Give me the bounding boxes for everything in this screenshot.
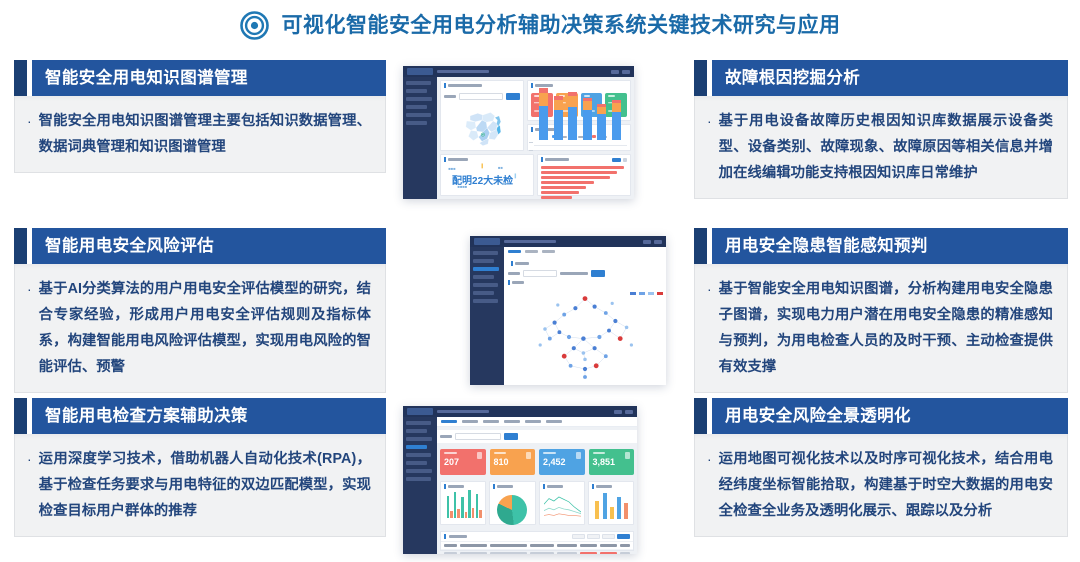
panel-tick-icon bbox=[531, 83, 533, 88]
table-header-cell bbox=[444, 544, 457, 547]
bar bbox=[597, 104, 606, 140]
page-title: 可视化智能安全用电分析辅助决策系统关键技术研究与应用 bbox=[282, 15, 841, 36]
card-header: 智能安全用电知识图谱管理 bbox=[14, 60, 386, 96]
app-titlebar bbox=[403, 406, 637, 417]
bullseye-icon bbox=[240, 11, 269, 40]
sidebar-item[interactable] bbox=[406, 81, 431, 85]
graph-filter-panel bbox=[504, 259, 666, 286]
bar-group bbox=[461, 497, 467, 518]
graph-legend bbox=[630, 292, 663, 295]
card-title: 智能用电检查方案辅助决策 bbox=[45, 408, 248, 425]
kpi-label bbox=[584, 95, 590, 97]
sidebar-item[interactable] bbox=[406, 453, 431, 457]
filter-select[interactable] bbox=[459, 93, 503, 100]
filter-search-button[interactable] bbox=[591, 270, 605, 277]
app-logo bbox=[407, 408, 433, 415]
bullet-item: · 基于智能安全用电知识图谱，分析构建用电安全隐患子图谱，实现电力用户潜在用电安… bbox=[707, 276, 1053, 380]
bullet-text: 智能安全用电知识图谱管理主要包括知识数据管理、数据词典管理和知识图谱管理 bbox=[39, 108, 371, 160]
bar bbox=[612, 100, 621, 140]
sidebar-item-active[interactable] bbox=[473, 267, 499, 271]
bullet-text: 基于AI分类算法的用户用电安全评估模型的研究，结合专家经验，形成用户用电安全评估… bbox=[39, 276, 371, 380]
settings-icon[interactable] bbox=[622, 70, 630, 74]
panel-title-text bbox=[596, 485, 612, 488]
table-toolbar bbox=[441, 532, 633, 542]
app-titlebar bbox=[470, 236, 666, 247]
card-title: 智能安全用电知识图谱管理 bbox=[45, 70, 248, 87]
bullet-dot: · bbox=[707, 276, 712, 302]
sidebar-item[interactable] bbox=[406, 121, 427, 125]
accent-block bbox=[14, 398, 27, 434]
app-content: — — bbox=[437, 77, 634, 199]
map-filter-bar bbox=[441, 90, 523, 103]
bullet-dot: · bbox=[27, 276, 32, 302]
card-title: 智能用电安全风险评估 bbox=[45, 238, 214, 255]
table-header-cell bbox=[530, 544, 554, 547]
app-logo bbox=[474, 238, 500, 245]
table-header-cell bbox=[580, 544, 597, 547]
accent-block bbox=[694, 398, 707, 434]
panel-title bbox=[490, 482, 534, 491]
mixed-panel bbox=[588, 481, 634, 525]
tab[interactable] bbox=[525, 420, 541, 423]
settings-icon[interactable] bbox=[625, 410, 633, 414]
bullet-item: · 运用深度学习技术，借助机器人自动化技术(RPA)，基于检查任务要求与用电特征… bbox=[27, 446, 371, 524]
tab[interactable] bbox=[508, 250, 521, 253]
line-panel bbox=[539, 481, 585, 525]
kpi-label bbox=[608, 95, 614, 97]
tab[interactable] bbox=[441, 420, 457, 423]
table-header-cell bbox=[620, 544, 630, 547]
panel-tick-icon bbox=[444, 83, 446, 88]
screenshot-knowledge-graph bbox=[470, 236, 666, 385]
app-sidebar bbox=[470, 247, 504, 385]
accent-block bbox=[694, 60, 707, 96]
table-header-cell bbox=[460, 544, 487, 547]
filter-label bbox=[444, 95, 456, 98]
dashboard-right-column: — — bbox=[527, 80, 631, 151]
hbar bbox=[541, 181, 594, 184]
app-main: 207 810 2,452 bbox=[403, 417, 637, 554]
card-body: · 基于用电设备故障历史根因知识库数据展示设备类型、设备类别、故障现象、故障原因… bbox=[694, 96, 1068, 199]
kpi-value: 2,452 bbox=[543, 457, 581, 467]
panel-title-text bbox=[497, 485, 513, 488]
filter-label bbox=[508, 272, 520, 275]
sidebar-item[interactable] bbox=[406, 113, 431, 117]
kpi-label bbox=[444, 452, 457, 454]
table-button[interactable] bbox=[572, 534, 585, 539]
bullet-item: · 基于用电设备故障历史根因知识库数据展示设备类型、设备类别、故障现象、故障原因… bbox=[707, 108, 1053, 186]
panel-tick-icon bbox=[543, 484, 545, 489]
app-sidebar bbox=[403, 417, 437, 554]
filter-search-button[interactable] bbox=[506, 93, 520, 100]
stats-filter-bar bbox=[437, 430, 637, 443]
tab[interactable] bbox=[483, 420, 499, 423]
sidebar-item[interactable] bbox=[473, 259, 494, 263]
app-main bbox=[470, 247, 666, 385]
bullet-text: 运用地图可视化技术以及时序可视化技术，结合用电经纬度坐标智能拾取，构建基于时空大… bbox=[719, 446, 1053, 524]
tab[interactable] bbox=[525, 250, 538, 253]
card-header: 智能用电安全风险评估 bbox=[14, 228, 386, 264]
card-header-bar: 智能安全用电知识图谱管理 bbox=[32, 60, 386, 96]
filter-search-button[interactable] bbox=[504, 433, 518, 440]
accent-block bbox=[14, 228, 27, 264]
panel-tick-icon bbox=[511, 261, 513, 266]
data-table bbox=[440, 531, 634, 551]
screenshot-dashboard-map: — — bbox=[403, 66, 634, 199]
settings-icon[interactable] bbox=[654, 240, 662, 244]
panel-tick-icon bbox=[592, 484, 594, 489]
hbar bbox=[541, 191, 579, 194]
app-titlebar-actions bbox=[611, 70, 630, 74]
panel-title bbox=[508, 279, 662, 286]
kpi-icon bbox=[576, 452, 581, 459]
sidebar-item[interactable] bbox=[473, 275, 494, 279]
app-titlebar bbox=[403, 66, 634, 77]
table-button[interactable] bbox=[587, 534, 600, 539]
card-header-bar: 故障根因挖掘分析 bbox=[712, 60, 1068, 96]
bullet-dot: · bbox=[27, 446, 32, 472]
app-window bbox=[470, 236, 666, 385]
feature-card-risk-assessment: 智能用电安全风险评估 · 基于AI分类算法的用户用电安全评估模型的研究，结合专家… bbox=[14, 228, 386, 393]
table-header-cell bbox=[490, 544, 527, 547]
table-header-cell bbox=[557, 544, 577, 547]
kpi-card-row: 207 810 2,452 bbox=[437, 446, 637, 478]
bullet-item: · 基于AI分类算法的用户用电安全评估模型的研究，结合专家经验，形成用户用电安全… bbox=[27, 276, 371, 380]
tab[interactable] bbox=[542, 250, 555, 253]
user-avatar[interactable] bbox=[611, 70, 619, 74]
card-header-bar: 智能用电检查方案辅助决策 bbox=[32, 398, 386, 434]
stacked-bar-panel bbox=[527, 124, 631, 151]
card-header: 故障根因挖掘分析 bbox=[694, 60, 1068, 96]
chart-bars bbox=[530, 140, 628, 144]
kpi-icon bbox=[526, 452, 531, 459]
china-province-map[interactable] bbox=[441, 103, 523, 150]
card-body: · 基于智能安全用电知识图谱，分析构建用电安全隐患子图谱，实现电力用户潜在用电安… bbox=[694, 264, 1068, 393]
sidebar-item[interactable] bbox=[473, 299, 498, 303]
sidebar-item[interactable] bbox=[406, 97, 432, 101]
feature-card-hidden-danger: 用电安全隐患智能感知预判 · 基于智能安全用电知识图谱，分析构建用电安全隐患子图… bbox=[694, 228, 1068, 393]
bullet-dot: · bbox=[27, 108, 32, 134]
horizontal-bar-chart bbox=[538, 164, 630, 199]
app-main: — — bbox=[403, 77, 634, 199]
sidebar-item[interactable] bbox=[406, 421, 431, 425]
app-breadcrumb bbox=[437, 70, 489, 73]
bullet-item: · 智能安全用电知识图谱管理主要包括知识数据管理、数据词典管理和知识图谱管理 bbox=[27, 108, 371, 160]
tab[interactable] bbox=[462, 420, 478, 423]
bullet-text: 基于智能安全用电知识图谱，分析构建用电安全隐患子图谱，实现电力用户潜在用电安全隐… bbox=[719, 276, 1053, 380]
tab[interactable] bbox=[546, 420, 562, 423]
hbar bbox=[541, 171, 617, 174]
hbar bbox=[541, 166, 624, 169]
panel-title-text bbox=[448, 158, 468, 161]
stats-tab-bar bbox=[437, 417, 637, 427]
card-title: 故障根因挖掘分析 bbox=[725, 70, 860, 87]
bar bbox=[554, 96, 563, 140]
slide-root: 可视化智能安全用电分析辅助决策系统关键技术研究与应用 智能安全用电知识图谱管理 … bbox=[0, 0, 1080, 562]
panel-title-text bbox=[512, 281, 524, 284]
panel-title bbox=[441, 81, 523, 90]
panel-title bbox=[508, 259, 662, 268]
panel-tick-icon bbox=[493, 484, 495, 489]
filter-select[interactable] bbox=[523, 270, 557, 277]
kpi-card-3851[interactable]: 3,851 bbox=[589, 449, 635, 475]
kpi-icon bbox=[477, 452, 482, 459]
kpi-label bbox=[543, 452, 556, 454]
panel-title bbox=[540, 482, 584, 491]
bullet-text: 基于用电设备故障历史根因知识库数据展示设备类型、设备类别、故障现象、故障原因等相… bbox=[719, 108, 1053, 186]
table-title bbox=[449, 535, 467, 538]
app-breadcrumb bbox=[437, 410, 489, 413]
card-header: 用电安全隐患智能感知预判 bbox=[694, 228, 1068, 264]
card-body: · 智能安全用电知识图谱管理主要包括知识数据管理、数据词典管理和知识图谱管理 bbox=[14, 96, 386, 173]
kpi-label bbox=[494, 452, 507, 454]
card-header: 用电安全风险全景透明化 bbox=[694, 398, 1068, 434]
panel-tick-icon bbox=[444, 534, 446, 539]
panel-title-text bbox=[535, 84, 553, 87]
dashboard-row: — — bbox=[440, 80, 631, 151]
kpi-card-207[interactable]: 207 bbox=[440, 449, 486, 475]
stats-chart-row bbox=[437, 481, 637, 525]
line-chart bbox=[544, 493, 581, 517]
feature-card-risk-panorama: 用电安全风险全景透明化 · 运用地图可视化技术以及时序可视化技术，结合用电经纬度… bbox=[694, 398, 1068, 537]
card-title: 用电安全隐患智能感知预判 bbox=[725, 238, 928, 255]
panel-title bbox=[441, 482, 485, 491]
sidebar-item[interactable] bbox=[406, 437, 432, 441]
card-body: · 基于AI分类算法的用户用电安全评估模型的研究，结合专家经验，形成用户用电安全… bbox=[14, 264, 386, 393]
table-header-cell bbox=[600, 544, 617, 547]
table-button[interactable] bbox=[602, 534, 615, 539]
kpi-value: 207 bbox=[444, 457, 482, 467]
pie-panel bbox=[489, 481, 535, 525]
bullet-dot: · bbox=[707, 108, 712, 134]
accent-block bbox=[694, 228, 707, 264]
table-primary-button[interactable] bbox=[617, 534, 630, 539]
app-sidebar bbox=[403, 77, 437, 199]
sidebar-item[interactable] bbox=[406, 105, 427, 109]
bar bbox=[583, 98, 592, 140]
feature-card-inspection-plan: 智能用电检查方案辅助决策 · 运用深度学习技术，借助机器人自动化技术(RPA)，… bbox=[14, 398, 386, 537]
sidebar-item[interactable] bbox=[473, 251, 498, 255]
app-breadcrumb bbox=[504, 240, 556, 243]
table-row[interactable] bbox=[441, 550, 633, 554]
filter-label bbox=[560, 272, 588, 275]
screenshot-dashboard-stats: 207 810 2,452 bbox=[403, 406, 637, 554]
sidebar-item-active[interactable] bbox=[406, 445, 427, 449]
kpi-card-810[interactable]: 810 bbox=[490, 449, 536, 475]
tab[interactable] bbox=[504, 420, 520, 423]
panel-title-text bbox=[448, 485, 464, 488]
panel-title bbox=[441, 155, 533, 164]
panel-tick-icon bbox=[531, 127, 533, 132]
map-panel bbox=[440, 80, 524, 151]
panel-title-text bbox=[515, 262, 529, 265]
panel-tick-icon bbox=[508, 280, 510, 285]
card-header: 智能用电检查方案辅助决策 bbox=[14, 398, 386, 434]
bar-group bbox=[454, 492, 460, 518]
app-window: — — bbox=[403, 66, 634, 199]
app-window: 207 810 2,452 bbox=[403, 406, 637, 554]
legend-swatch bbox=[623, 158, 627, 162]
panel-tick-icon bbox=[444, 157, 446, 162]
accent-block bbox=[14, 60, 27, 96]
hbar bbox=[541, 186, 586, 189]
sidebar-item[interactable] bbox=[406, 461, 427, 465]
wordcloud-panel: 配明22大未检 ■■■ ■■ ■■■■ ■■ ▌ ▌ bbox=[440, 154, 534, 196]
panel-title-text bbox=[448, 84, 482, 87]
app-titlebar-actions bbox=[643, 240, 662, 244]
bar-group bbox=[468, 490, 474, 518]
app-titlebar-actions bbox=[614, 410, 633, 414]
kpi-card-2452[interactable]: 2,452 bbox=[539, 449, 585, 475]
kpi-label bbox=[593, 452, 606, 454]
graph-filter-bar bbox=[508, 268, 662, 279]
feature-card-fault-root-cause: 故障根因挖掘分析 · 基于用电设备故障历史根因知识库数据展示设备类型、设备类别、… bbox=[694, 60, 1068, 199]
feature-card-knowledge-graph: 智能安全用电知识图谱管理 · 智能安全用电知识图谱管理主要包括知识数据管理、数据… bbox=[14, 60, 386, 173]
bar bbox=[568, 92, 577, 140]
sidebar-item[interactable] bbox=[406, 89, 427, 93]
card-header-bar: 用电安全隐患智能感知预判 bbox=[712, 228, 1068, 264]
sidebar-item[interactable] bbox=[473, 291, 494, 295]
panel-title-text bbox=[545, 158, 569, 161]
table-actions bbox=[572, 534, 630, 539]
stacked-bar-chart bbox=[528, 138, 630, 150]
card-header-bar: 用电安全风险全景透明化 bbox=[712, 398, 1068, 434]
card-body: · 运用地图可视化技术以及时序可视化技术，结合用电经纬度坐标智能拾取，构建基于时… bbox=[694, 434, 1068, 537]
dashboard-bottom-row: 配明22大未检 ■■■ ■■ ■■■■ ■■ ▌ ▌ bbox=[440, 154, 631, 196]
user-avatar[interactable] bbox=[614, 410, 622, 414]
bullet-text: 运用深度学习技术，借助机器人自动化技术(RPA)，基于检查任务要求与用电特征的双… bbox=[39, 446, 371, 524]
panel-tick-icon bbox=[541, 157, 543, 162]
user-avatar[interactable] bbox=[643, 240, 651, 244]
card-body: · 运用深度学习技术，借助机器人自动化技术(RPA)，基于检查任务要求与用电特征… bbox=[14, 434, 386, 537]
filter-label bbox=[440, 435, 452, 438]
legend-swatch bbox=[612, 158, 621, 162]
sidebar-item[interactable] bbox=[406, 469, 432, 473]
bar bbox=[539, 88, 548, 140]
horizontal-bar-panel bbox=[537, 154, 631, 196]
bullet-dot: · bbox=[707, 446, 712, 472]
panel-title bbox=[538, 155, 630, 164]
graph-canvas[interactable] bbox=[504, 289, 666, 385]
sidebar-item[interactable] bbox=[406, 477, 431, 481]
bar-group bbox=[476, 494, 482, 518]
hbar bbox=[541, 196, 572, 199]
sidebar-item[interactable] bbox=[406, 429, 427, 433]
card-title: 用电安全风险全景透明化 bbox=[725, 408, 911, 425]
graph-tab-bar bbox=[504, 247, 666, 256]
panel-title-text bbox=[547, 485, 563, 488]
bar-group bbox=[447, 496, 453, 518]
app-content bbox=[504, 247, 666, 385]
mixed-chart bbox=[589, 491, 633, 521]
sidebar-item[interactable] bbox=[473, 283, 498, 287]
table-header-row bbox=[441, 542, 633, 550]
panel-tick-icon bbox=[444, 484, 446, 489]
slide-header: 可视化智能安全用电分析辅助决策系统关键技术研究与应用 bbox=[0, 0, 1080, 50]
grouped-bar-chart bbox=[441, 491, 485, 521]
app-content: 207 810 2,452 bbox=[437, 417, 637, 554]
kpi-icon bbox=[625, 452, 630, 459]
panel-title bbox=[589, 482, 633, 491]
bullet-item: · 运用地图可视化技术以及时序可视化技术，结合用电经纬度坐标智能拾取，构建基于时… bbox=[707, 446, 1053, 524]
grouped-bar-panel bbox=[440, 481, 486, 525]
card-header-bar: 智能用电安全风险评估 bbox=[32, 228, 386, 264]
pie-chart bbox=[497, 495, 527, 525]
filter-select[interactable] bbox=[455, 433, 501, 440]
app-logo bbox=[407, 68, 433, 75]
hbar bbox=[541, 176, 610, 179]
